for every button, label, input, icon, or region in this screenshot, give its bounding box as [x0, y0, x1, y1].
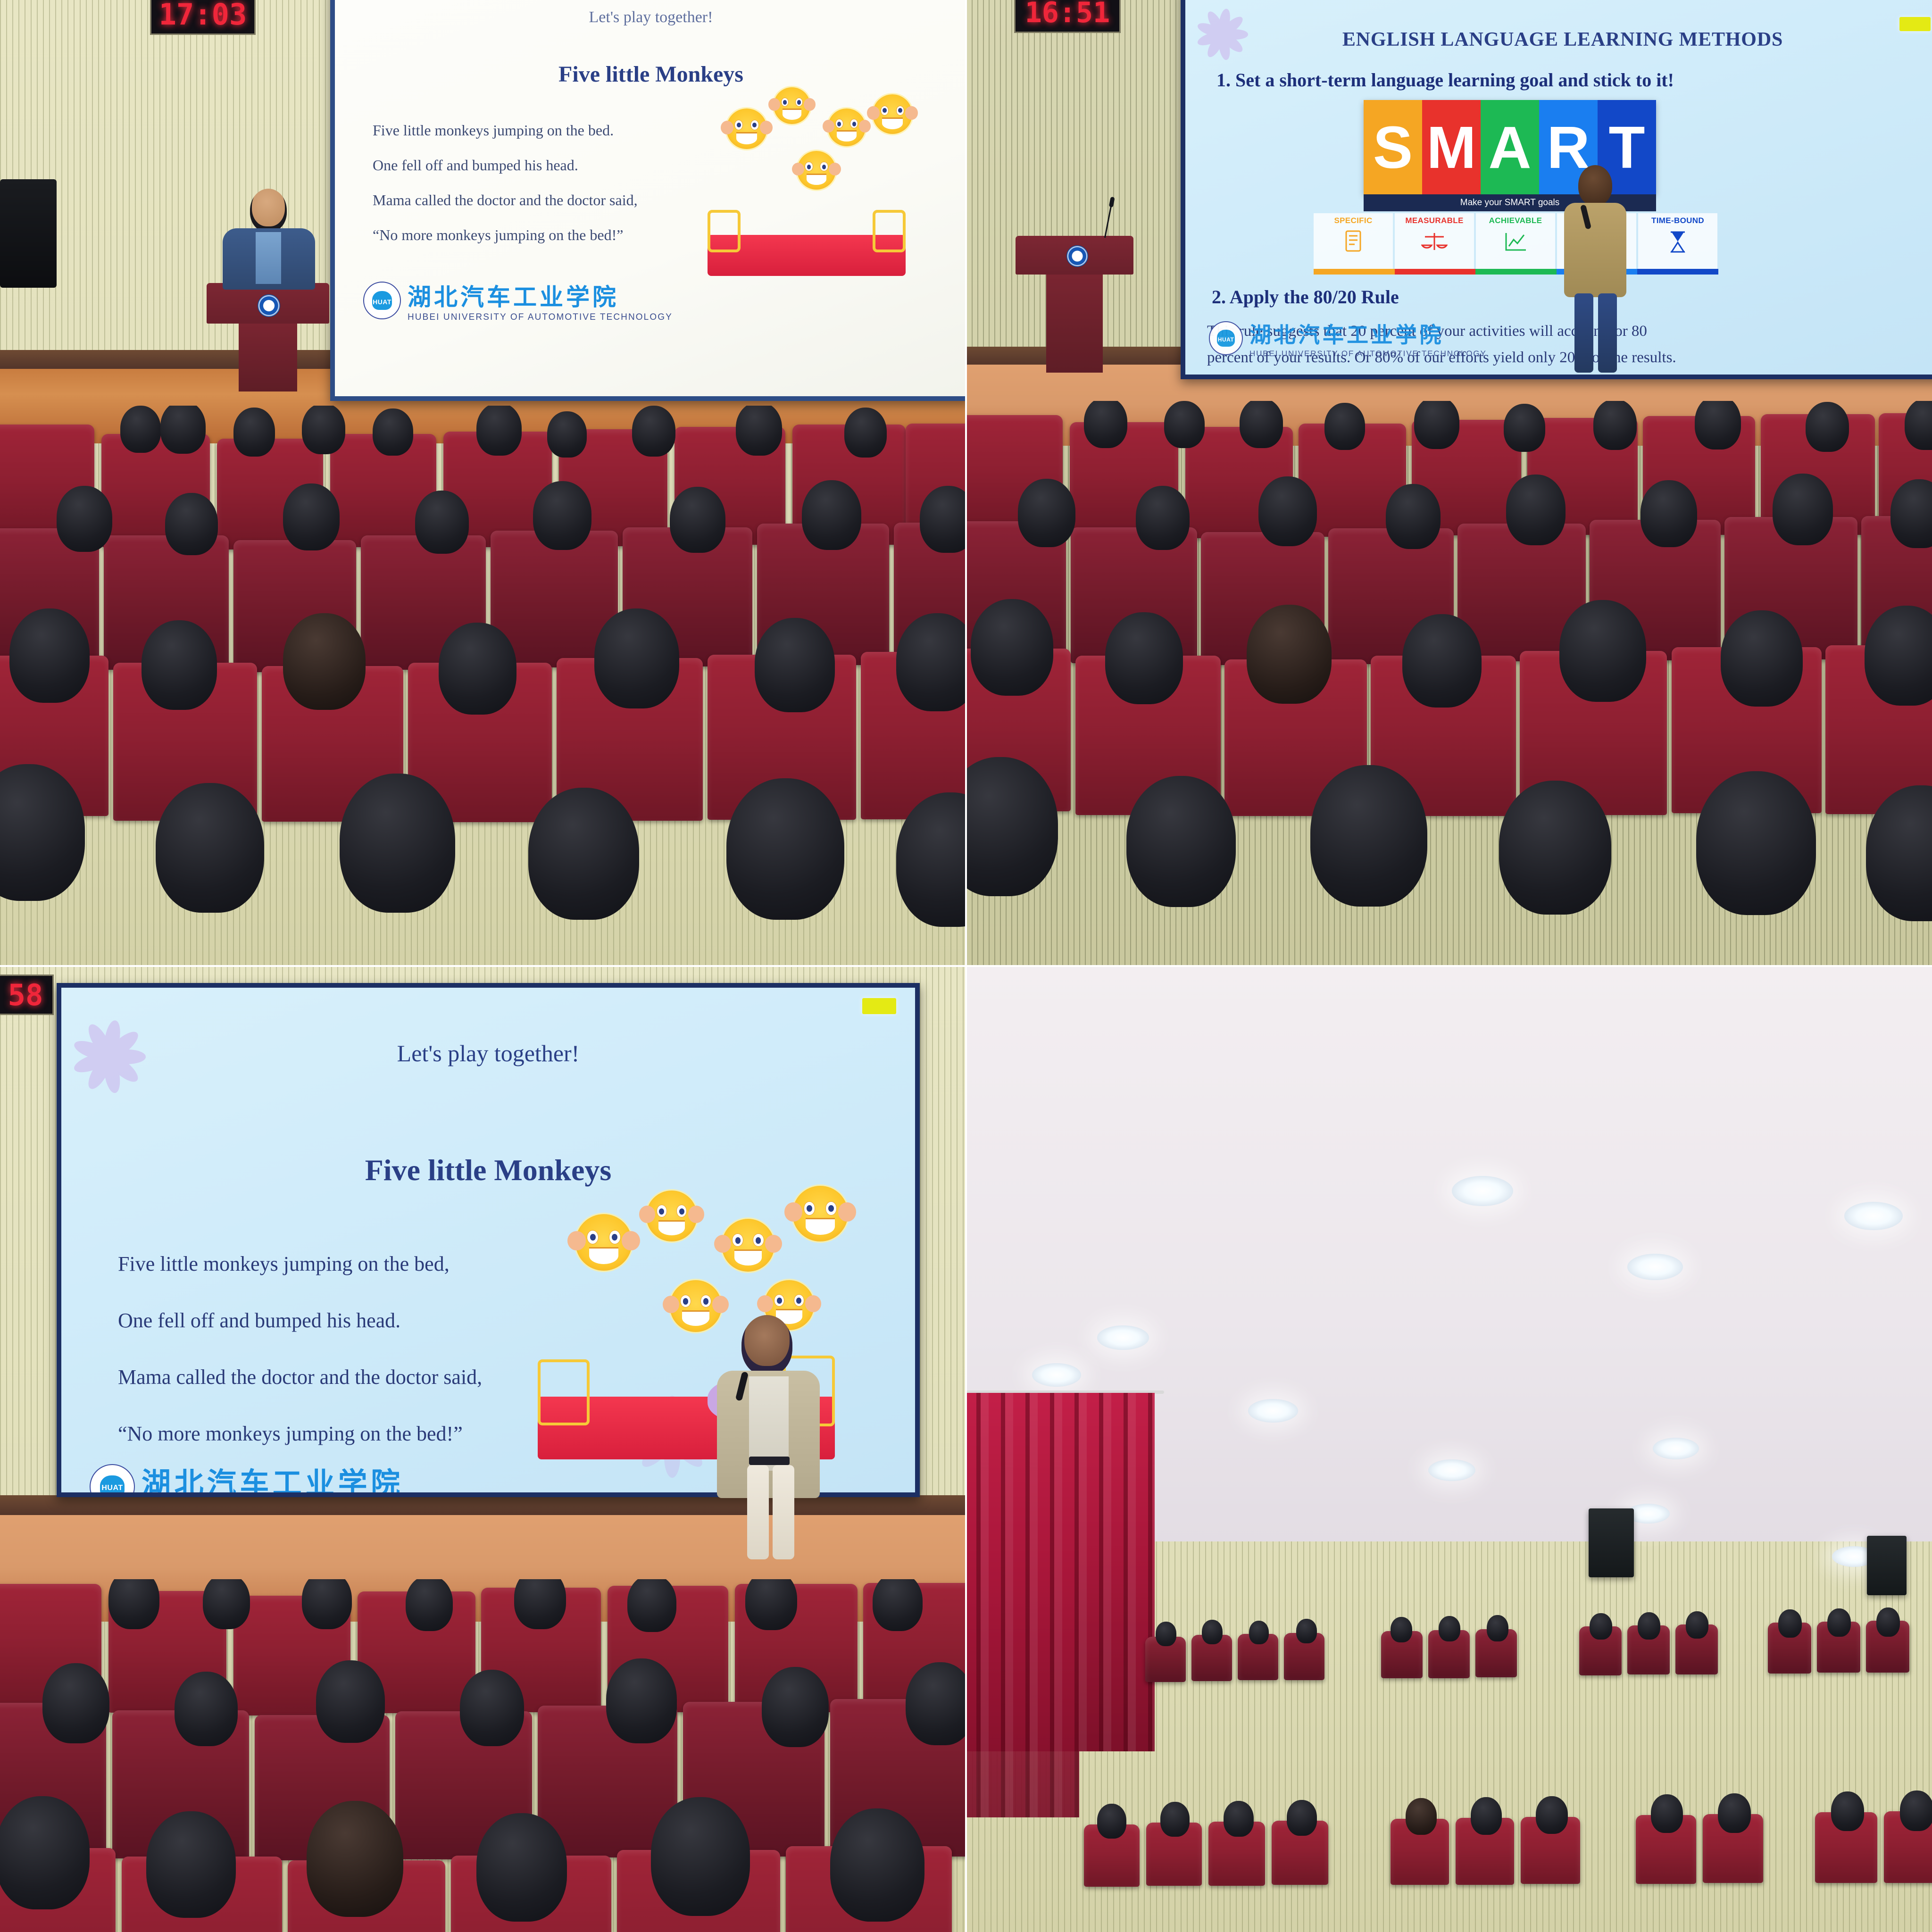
podium-emblem	[1066, 245, 1088, 267]
belt	[749, 1457, 790, 1465]
ceiling-downlight	[1627, 1254, 1683, 1280]
slide-line-2: One fell off and bumped his head.	[373, 157, 578, 174]
mid-audience	[966, 1787, 1932, 1932]
huat-name-cn: 湖北汽车工业学院	[142, 1459, 449, 1492]
ceiling-downlight	[1428, 1459, 1475, 1481]
huat-name-cn: 湖北汽车工业学院	[408, 278, 673, 312]
panel-bottom-left: 58 Let's play together!	[0, 966, 966, 1932]
slide-line-1: Five little monkeys jumping on the bed,	[118, 1252, 450, 1276]
huat-name-en: HUBEI UNIVERSITY OF AUTOMOTIVE TECHNOLOG…	[408, 312, 673, 323]
ceiling-downlight	[1844, 1202, 1903, 1230]
podium	[1016, 236, 1133, 373]
huat-abbr: HUAT	[364, 298, 400, 306]
huat-logo: HUAT 湖北汽车工业学院 HUBEI UNIVERSITY OF AUTOMO…	[1209, 318, 1487, 358]
wall-speaker	[1589, 1508, 1634, 1577]
bed-clipart	[708, 205, 906, 276]
chart-up-icon	[1476, 229, 1555, 257]
smart-letter-m: M	[1422, 100, 1481, 194]
digital-clock: 58	[0, 974, 54, 1015]
smart-column-measurable: MEASURABLE	[1395, 213, 1474, 269]
huat-logo: HUAT 湖北汽车工业学院 HUBEI UNIVERSITY OF AUTOMO…	[363, 278, 673, 323]
panel-top-right: 16:51 ENGLISH LANGUAGE LEARNING METHODS …	[966, 0, 1932, 966]
podium-emblem	[258, 294, 280, 317]
projection-screen-frame: Let's play together! Five little Monkeys…	[330, 0, 966, 401]
huat-logo: HUAT 湖北汽车工业学院 HUBEI UNIVERSITY OF AUTOMO…	[90, 1459, 449, 1492]
female-speaker	[698, 1315, 840, 1565]
slide-line-4: “No more monkeys jumping on the bed!”	[373, 226, 623, 244]
ceiling-downlight	[1248, 1399, 1298, 1423]
digital-clock: 17:03	[150, 0, 256, 35]
audience-seating-top-left	[0, 406, 966, 966]
slide-line-1: Five little monkeys jumping on the bed.	[373, 122, 614, 139]
panel-top-left: 17:03 Let's play together! Five little M…	[0, 0, 966, 966]
slide-surface: Let's play together! Five little Monkeys…	[335, 0, 966, 396]
panel-bottom-right	[966, 966, 1932, 1932]
smart-columns: SPECIFIC MEASURABLE ACHIEVABLE	[1313, 213, 1718, 269]
slide-line-2: One fell off and bumped his head.	[118, 1308, 400, 1332]
digital-clock: 16:51	[1014, 0, 1121, 33]
ceiling-downlight	[1097, 1325, 1149, 1350]
slide-title: Let's play together!	[335, 8, 966, 26]
huat-name-cn: 湖北汽车工业学院	[1249, 318, 1487, 349]
ceiling-downlight	[1452, 1176, 1513, 1206]
collage-divider-horizontal	[0, 965, 1932, 967]
slide-heading: Five little Monkeys	[335, 61, 966, 87]
audience-seating-top-right	[966, 401, 1932, 966]
smart-progress-bar	[1314, 269, 1718, 275]
huat-abbr: HUAT	[1210, 336, 1242, 343]
hourglass-icon	[1638, 229, 1717, 257]
slide-point-2: 2. Apply the 80/20 Rule	[1212, 286, 1399, 308]
speaker-on-stage	[1556, 165, 1636, 373]
smart-column-achievable: ACHIEVABLE	[1476, 213, 1555, 269]
ceiling-downlight	[1653, 1438, 1699, 1459]
smart-column-specific: SPECIFIC	[1314, 213, 1393, 269]
scales-icon	[1395, 229, 1474, 257]
slide-point-1: 1. Set a short-term language learning go…	[1216, 69, 1674, 91]
photo-collage: 17:03 Let's play together! Five little M…	[0, 0, 1932, 1932]
ceiling-downlight	[1032, 1363, 1081, 1387]
huat-name-en: HUBEI UNIVERSITY OF AUTOMOTIVE TECHNOLOG…	[1249, 349, 1487, 358]
smart-letter-s: S	[1364, 100, 1422, 194]
slide-line-3: Mama called the doctor and the doctor sa…	[373, 192, 638, 209]
smart-letter-a: A	[1481, 100, 1539, 194]
audience-seating-bottom-left	[0, 1579, 966, 1932]
speaker-at-podium	[217, 189, 321, 292]
slide-heading: Five little Monkeys	[61, 1153, 915, 1188]
document-icon	[1314, 229, 1393, 257]
smart-column-time-bound: TIME-BOUND	[1638, 213, 1717, 269]
slide-line-3: Mama called the doctor and the doctor sa…	[118, 1365, 482, 1389]
wall-speaker	[1867, 1536, 1907, 1595]
loudspeaker	[0, 179, 57, 288]
slide-title: ENGLISH LANGUAGE LEARNING METHODS	[1185, 28, 1932, 51]
huat-abbr: HUAT	[91, 1484, 134, 1492]
slide-title: Let's play together!	[61, 1040, 915, 1067]
yellow-highlight-tag	[862, 998, 896, 1014]
podium	[207, 283, 329, 391]
slide-line-4: “No more monkeys jumping on the bed!”	[118, 1422, 463, 1446]
